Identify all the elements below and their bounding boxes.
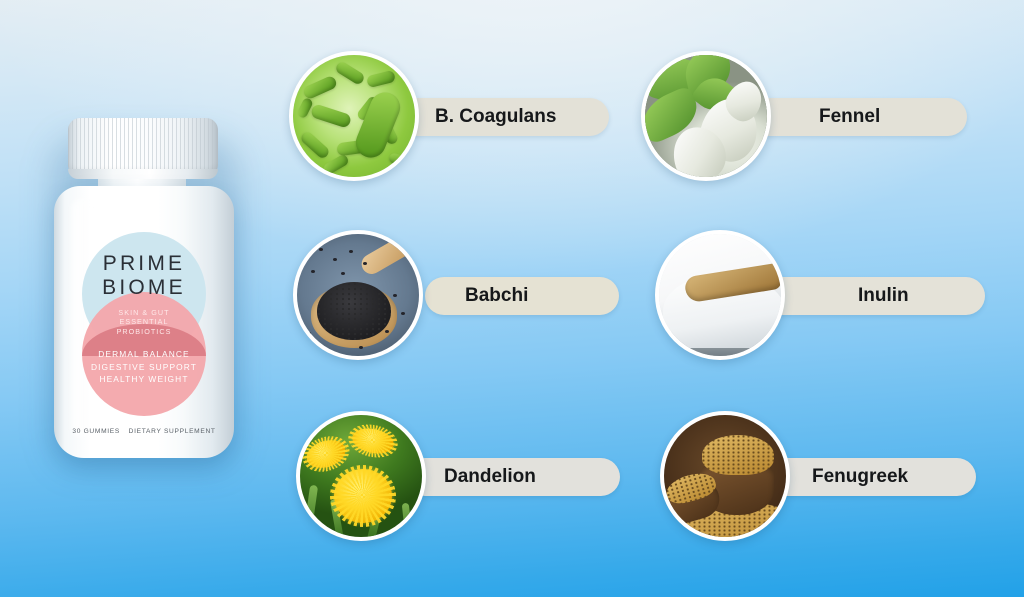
ingredient-item-babchi[interactable]: Babchi <box>293 230 623 362</box>
supplement-category: DIETARY SUPPLEMENT <box>129 428 216 435</box>
dandelion-photo-icon[interactable] <box>296 411 426 541</box>
product-benefits: DERMAL BALANCE DIGESTIVE SUPPORT HEALTHY… <box>54 348 234 386</box>
ingredient-pill-babchi[interactable]: Babchi <box>425 277 619 315</box>
label-footer: 30 GUMMIES DIETARY SUPPLEMENT <box>68 428 220 435</box>
ingredient-label-b-coagulans: B. Coagulans <box>435 106 556 128</box>
ingredient-pill-dandelion[interactable]: Dandelion <box>406 458 620 496</box>
brand-line-2: BIOME <box>54 276 234 300</box>
ingredient-item-fenugreek[interactable]: Fenugreek <box>660 411 1000 543</box>
babchi-seeds-photo-icon[interactable] <box>293 230 423 360</box>
fenugreek-seeds-photo-icon[interactable] <box>660 411 790 541</box>
tagline-line-3: PROBIOTICS <box>54 327 234 336</box>
fennel-photo-icon[interactable] <box>641 51 771 181</box>
brand-name: PRIME BIOME <box>54 252 234 300</box>
ingredient-item-dandelion[interactable]: Dandelion <box>296 411 626 543</box>
ingredient-item-inulin[interactable]: Inulin <box>655 230 995 362</box>
bottle-cap <box>68 118 218 174</box>
ingredient-label-inulin: Inulin <box>858 285 909 307</box>
ingredient-pill-fenugreek[interactable]: Fenugreek <box>764 458 976 496</box>
product-tagline: SKIN & GUT ESSENTIAL PROBIOTICS <box>54 308 234 336</box>
benefit-digestive-support: DIGESTIVE SUPPORT <box>54 361 234 374</box>
ingredients-infographic: PRIME BIOME SKIN & GUT ESSENTIAL PROBIOT… <box>0 0 1024 597</box>
benefit-dermal-balance: DERMAL BALANCE <box>54 348 234 361</box>
ingredient-label-dandelion: Dandelion <box>444 466 536 488</box>
ingredient-label-fenugreek: Fenugreek <box>812 466 908 488</box>
ingredient-pill-inulin[interactable]: Inulin <box>760 277 985 315</box>
ingredient-label-fennel: Fennel <box>819 106 880 128</box>
bottle-body: PRIME BIOME SKIN & GUT ESSENTIAL PROBIOT… <box>54 186 234 458</box>
ingredient-label-babchi: Babchi <box>465 285 528 307</box>
tagline-line-1: SKIN & GUT <box>54 308 234 317</box>
product-bottle: PRIME BIOME SKIN & GUT ESSENTIAL PROBIOT… <box>46 108 242 468</box>
ingredient-item-fennel[interactable]: Fennel <box>641 51 971 183</box>
inulin-powder-photo-icon[interactable] <box>655 230 785 360</box>
gummy-count: 30 GUMMIES <box>72 428 120 435</box>
brand-line-1: PRIME <box>54 252 234 276</box>
tagline-line-2: ESSENTIAL <box>54 317 234 326</box>
ingredient-item-b-coagulans[interactable]: B. Coagulans <box>289 51 619 183</box>
bacteria-photo-icon[interactable] <box>289 51 419 181</box>
benefit-healthy-weight: HEALTHY WEIGHT <box>54 373 234 386</box>
